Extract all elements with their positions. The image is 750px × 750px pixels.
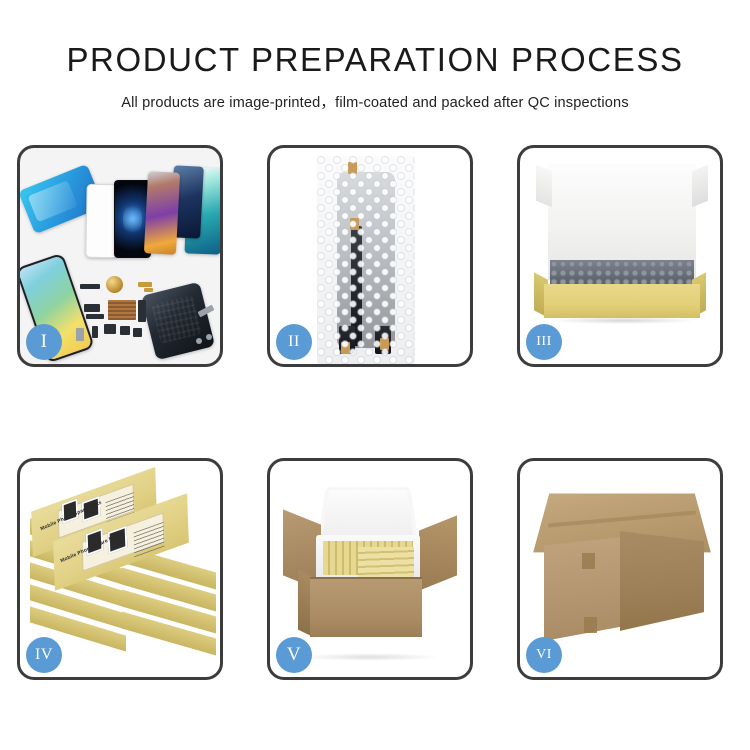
step-panel-3[interactable]: III	[517, 145, 723, 367]
small-chip-icon	[80, 284, 100, 289]
small-chip-icon	[120, 326, 130, 335]
yellow-box-front-icon	[544, 284, 700, 318]
purple-gradient-phone-icon	[144, 171, 180, 255]
box-stack-icon: Mobile Phone Spare Parts Mobile Phone Sp…	[28, 475, 218, 667]
step-panel-6[interactable]: VI	[517, 458, 723, 680]
small-chip-icon	[133, 328, 142, 337]
step-badge-6: VI	[526, 637, 562, 673]
small-chip-icon	[92, 326, 98, 338]
top-box-front: Mobile Phone Spare Parts	[54, 517, 188, 567]
header: PRODUCT PREPARATION PROCESS All products…	[0, 42, 750, 112]
flex-cable-icon	[138, 300, 146, 322]
screw-icon	[206, 334, 212, 340]
flex-cable-icon	[86, 314, 104, 319]
gold-connector-icon	[138, 282, 152, 287]
small-chip-icon	[84, 304, 100, 312]
yellow-packs-icon	[358, 547, 414, 577]
drop-shadow	[550, 317, 696, 324]
phone-back-housing-icon	[141, 282, 215, 361]
carton-tape-tab-icon	[584, 617, 597, 633]
screw-icon	[196, 338, 202, 344]
carton-flap-right-icon	[419, 515, 457, 590]
speaker-coin-icon	[106, 276, 123, 293]
camera-module-icon	[104, 324, 116, 334]
step-badge-4: IV	[26, 637, 62, 673]
step-panel-1[interactable]: I	[17, 145, 223, 367]
step-panel-4[interactable]: Mobile Phone Spare Parts Mobile Phone Sp…	[17, 458, 223, 680]
silver-part-icon	[76, 328, 84, 341]
drop-shadow	[300, 653, 440, 661]
step-badge-1: I	[26, 324, 62, 360]
step-badge-5: V	[276, 637, 312, 673]
step-badge-2: II	[276, 324, 312, 360]
foam-box-lid-icon	[317, 487, 418, 542]
product-preparation-infographic: PRODUCT PREPARATION PROCESS All products…	[0, 0, 750, 750]
gray-bubble-padding-icon	[550, 260, 694, 286]
carton-right-face-icon	[620, 531, 704, 635]
process-step-grid: I II	[17, 145, 734, 680]
page-subtitle: All products are image-printed，film-coat…	[0, 91, 750, 112]
logic-board-icon	[108, 300, 136, 320]
step-panel-5[interactable]: V	[267, 458, 473, 680]
carton-tape-tab-icon	[582, 553, 595, 569]
carton-front-icon	[310, 579, 422, 637]
bubble-wrap-bag-icon	[317, 156, 415, 364]
step-panel-2[interactable]: II	[267, 145, 473, 367]
page-title: PRODUCT PREPARATION PROCESS	[0, 42, 750, 78]
bubble-texture-icon	[317, 156, 415, 364]
gold-connector-icon	[144, 288, 153, 292]
step-badge-3: III	[526, 324, 562, 360]
